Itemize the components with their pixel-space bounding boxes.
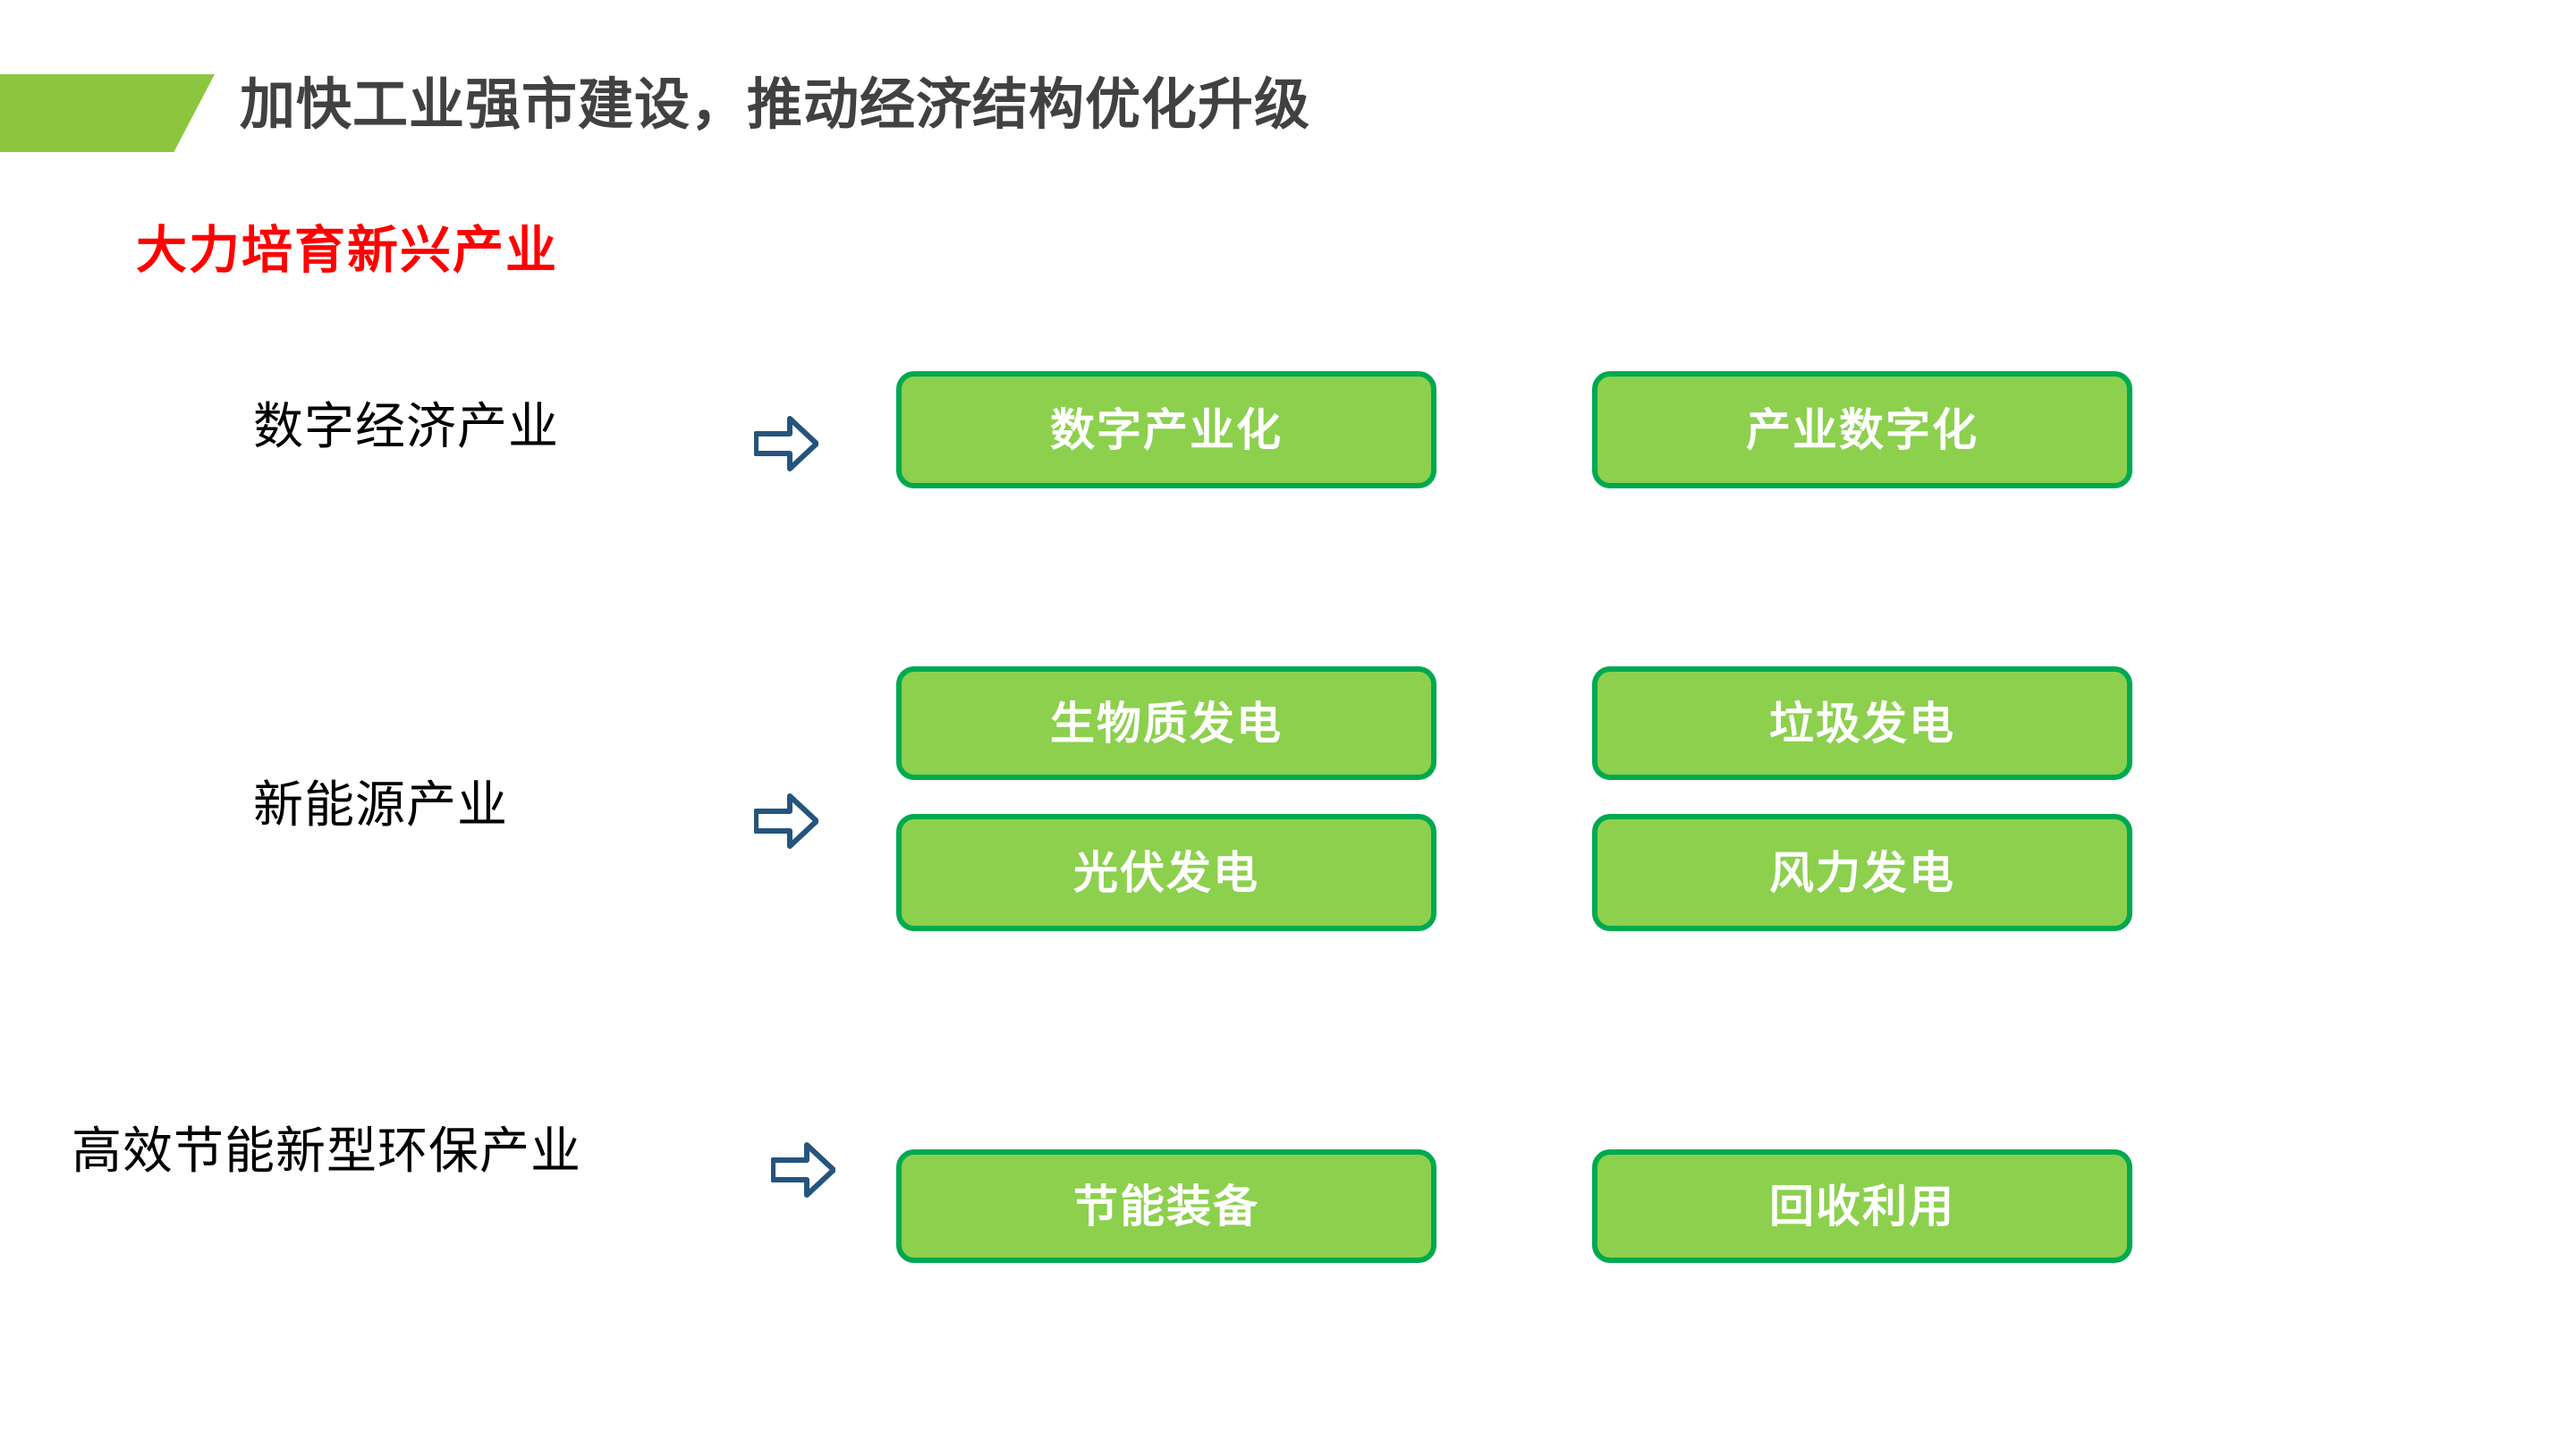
industry-box[interactable]: 风力发电 <box>1592 814 2132 931</box>
industry-box[interactable]: 光伏发电 <box>896 814 1436 931</box>
right-arrow-icon <box>754 792 818 851</box>
industry-box-label: 产业数字化 <box>1746 408 1979 453</box>
industry-box[interactable]: 数字产业化 <box>896 371 1436 488</box>
industry-box-label: 生物质发电 <box>1050 701 1283 746</box>
industry-box-label: 垃圾发电 <box>1769 701 1955 746</box>
right-arrow-icon <box>754 414 818 473</box>
industry-box-label: 光伏发电 <box>1073 851 1259 895</box>
industry-box-label: 节能装备 <box>1073 1184 1259 1229</box>
page-title: 加快工业强市建设，推动经济结构优化升级 <box>240 68 1310 143</box>
row-label-new-energy: 新能源产业 <box>253 775 508 835</box>
right-arrow-icon <box>771 1140 835 1199</box>
row-label-digital-economy: 数字经济产业 <box>253 396 559 456</box>
industry-box-label: 风力发电 <box>1769 851 1955 895</box>
industry-box[interactable]: 生物质发电 <box>896 666 1436 780</box>
slide-canvas: 加快工业强市建设，推动经济结构优化升级 大力培育新兴产业 数字经济产业 数字产业… <box>0 0 2576 1449</box>
industry-box[interactable]: 产业数字化 <box>1592 371 2132 488</box>
row-label-energy-saving-environmental: 高效节能新型环保产业 <box>72 1121 581 1181</box>
section-subtitle: 大力培育新兴产业 <box>136 217 558 284</box>
industry-box[interactable]: 垃圾发电 <box>1592 666 2132 780</box>
industry-box-label: 数字产业化 <box>1050 408 1283 453</box>
industry-box-label: 回收利用 <box>1769 1184 1955 1229</box>
industry-box[interactable]: 回收利用 <box>1592 1149 2132 1263</box>
industry-box[interactable]: 节能装备 <box>896 1149 1436 1263</box>
header-accent-shape <box>0 74 215 152</box>
